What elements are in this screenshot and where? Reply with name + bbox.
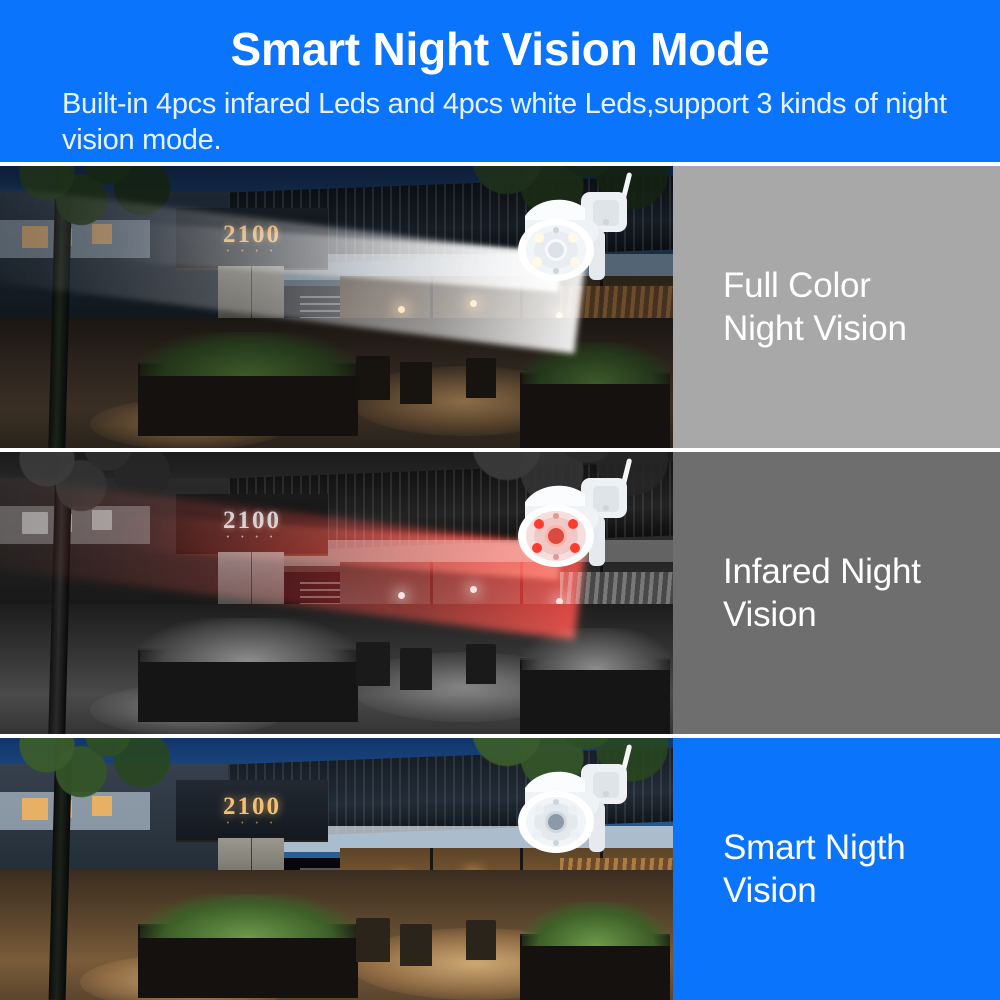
row-smart-nigth-vision: 2100 • • • • bbox=[0, 738, 1000, 1000]
outdoor-chair bbox=[400, 362, 432, 404]
outdoor-chair bbox=[466, 644, 496, 684]
outdoor-chair bbox=[356, 642, 390, 686]
row-full-color-night-vision: 2100 • • • • bbox=[0, 166, 1000, 448]
label-text: Full Color Night Vision bbox=[723, 264, 907, 350]
outdoor-chair bbox=[356, 918, 390, 962]
scene-smart-nigth-vision: 2100 • • • • bbox=[0, 738, 673, 1000]
scene-infared-night-vision: 2100 • • • • bbox=[0, 452, 673, 734]
building-signboard: 2100 • • • • bbox=[176, 780, 328, 842]
outdoor-chair bbox=[356, 356, 390, 400]
label-panel-infared-night-vision: Infared Night Vision bbox=[673, 452, 1000, 734]
label-panel-full-color-night-vision: Full Color Night Vision bbox=[673, 166, 1000, 448]
label-text: Smart Nigth Vision bbox=[723, 826, 906, 912]
ptz-dome-camera bbox=[511, 744, 661, 874]
planter-foliage bbox=[140, 894, 356, 938]
outdoor-chair bbox=[400, 924, 432, 966]
planter-foliage bbox=[522, 902, 670, 946]
page-title: Smart Night Vision Mode bbox=[0, 22, 1000, 76]
outdoor-chair bbox=[466, 920, 496, 960]
planter-foliage bbox=[140, 332, 356, 376]
planter-foliage bbox=[140, 618, 356, 662]
sign-subtext: • • • • bbox=[176, 820, 328, 827]
ptz-dome-camera bbox=[511, 172, 661, 302]
page-subtitle: Built-in 4pcs infared Leds and 4pcs whit… bbox=[62, 86, 962, 158]
infographic-page: Smart Night Vision Mode Built-in 4pcs in… bbox=[0, 0, 1000, 1000]
label-text: Infared Night Vision bbox=[723, 550, 921, 636]
tree-canopy bbox=[0, 738, 180, 812]
sign-number: 2100 bbox=[176, 793, 328, 821]
row-infared-night-vision: 2100 • • • • bbox=[0, 452, 1000, 734]
outdoor-chair bbox=[466, 358, 496, 398]
outdoor-chair bbox=[400, 648, 432, 690]
scene-full-color-night-vision: 2100 • • • • bbox=[0, 166, 673, 448]
label-panel-smart-nigth-vision: Smart Nigth Vision bbox=[673, 738, 1000, 1000]
header-banner: Smart Night Vision Mode Built-in 4pcs in… bbox=[0, 0, 1000, 162]
ptz-dome-camera bbox=[511, 458, 661, 588]
